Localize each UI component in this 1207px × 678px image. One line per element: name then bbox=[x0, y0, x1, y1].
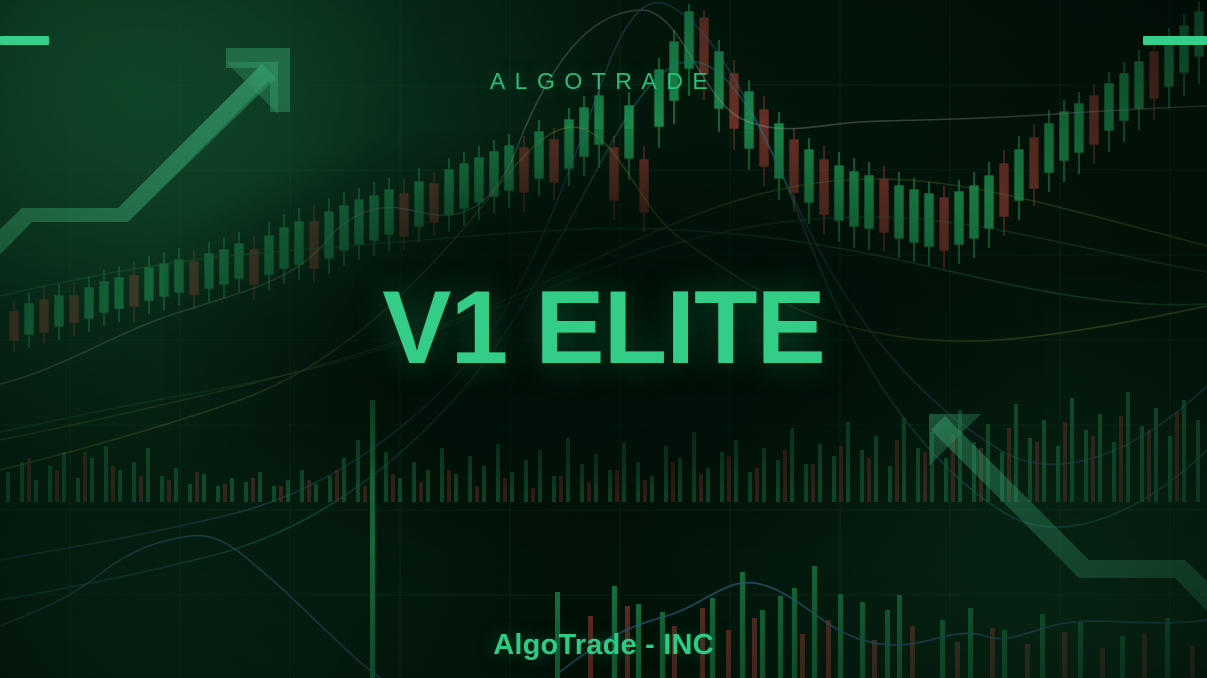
brand-footer: AlgoTrade - INC bbox=[0, 629, 1207, 662]
title-card: ALGOTRADE V1 ELITE AlgoTrade - INC bbox=[0, 0, 1207, 678]
brand-eyebrow: ALGOTRADE bbox=[0, 68, 1207, 95]
page-title: V1 ELITE bbox=[0, 276, 1207, 380]
rising-arrow-mirrored-icon bbox=[929, 414, 1207, 638]
